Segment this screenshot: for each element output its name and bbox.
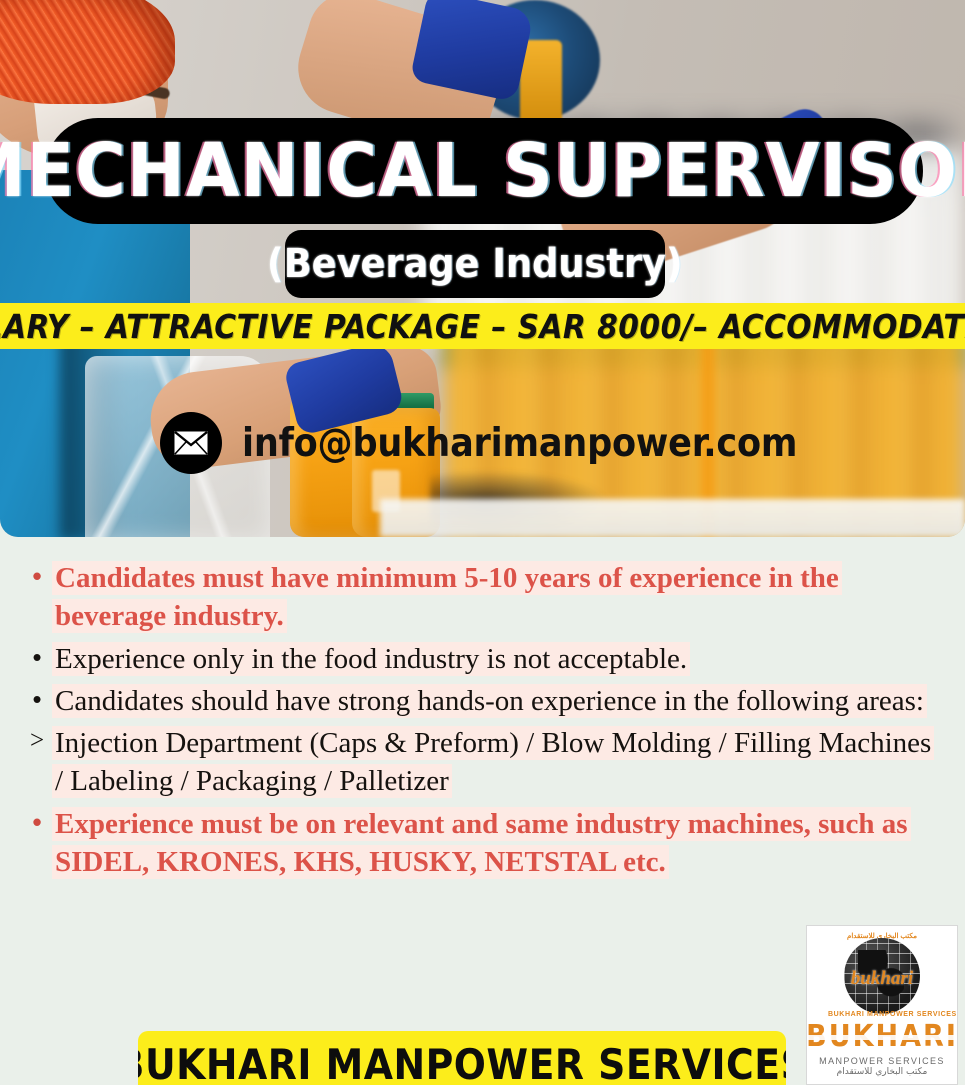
envelope-icon bbox=[160, 412, 222, 474]
requirement-item: • Experience only in the food industry i… bbox=[22, 640, 945, 678]
job-title: MECHANICAL SUPERVISOR bbox=[0, 128, 965, 214]
contact-email-row[interactable]: info@bukharimanpower.com bbox=[160, 412, 797, 474]
requirement-text: Experience must be on relevant and same … bbox=[52, 805, 945, 882]
company-logo: مكتب البخاري للاستقدام bukhari BUKHARI M… bbox=[806, 925, 958, 1085]
requirement-highlight: Candidates should have strong hands-on e… bbox=[52, 684, 927, 718]
footer-company-name: BUKHARI MANPOWER SERVICES bbox=[138, 1040, 786, 1085]
requirement-item: • Candidates must have minimum 5-10 year… bbox=[22, 559, 945, 636]
arrow-marker: > bbox=[22, 724, 52, 757]
photo-worker-hairnet bbox=[0, 0, 175, 104]
requirement-highlight: Candidates must have minimum 5-10 years … bbox=[52, 561, 842, 633]
bullet-marker: • bbox=[22, 805, 52, 839]
bullet-marker: • bbox=[22, 640, 52, 674]
salary-banner: SALARY – ATTRACTIVE PACKAGE – SAR 8000/–… bbox=[0, 303, 965, 349]
footer-company-banner: BUKHARI MANPOWER SERVICES bbox=[138, 1031, 786, 1085]
job-subtitle-pill: (Beverage Industry) bbox=[285, 230, 665, 298]
logo-tagline-arabic: مكتب البخاري للاستقدام bbox=[837, 1067, 928, 1077]
requirement-text: Experience only in the food industry is … bbox=[52, 640, 945, 678]
requirements-list: • Candidates must have minimum 5-10 year… bbox=[22, 559, 945, 881]
job-subtitle: (Beverage Industry) bbox=[267, 241, 683, 287]
contact-email-text[interactable]: info@bukharimanpower.com bbox=[242, 421, 797, 466]
requirement-text: Candidates must have minimum 5-10 years … bbox=[52, 559, 945, 636]
requirement-text: Injection Department (Caps & Preform) / … bbox=[52, 724, 945, 801]
logo-emblem: مكتب البخاري للاستقدام bukhari BUKHARI M… bbox=[828, 932, 936, 1020]
bullet-marker: • bbox=[22, 559, 52, 593]
requirement-item: • Experience must be on relevant and sam… bbox=[22, 805, 945, 882]
logo-wordmark: BUKHARI bbox=[806, 1022, 958, 1052]
logo-tagline: MANPOWER SERVICES bbox=[819, 1056, 945, 1066]
requirement-highlight: Experience must be on relevant and same … bbox=[52, 807, 911, 879]
photo-counter-surface bbox=[380, 499, 965, 537]
photo-filler-nozzle bbox=[520, 40, 562, 130]
requirement-text: Candidates should have strong hands-on e… bbox=[52, 682, 945, 720]
bullet-marker: • bbox=[22, 682, 52, 716]
logo-arc-bottom-text: BUKHARI MANPOWER SERVICES bbox=[828, 1011, 936, 1018]
salary-banner-text: SALARY – ATTRACTIVE PACKAGE – SAR 8000/–… bbox=[0, 307, 965, 346]
logo-script-text: bukhari bbox=[828, 968, 936, 990]
job-title-pill: MECHANICAL SUPERVISOR bbox=[45, 118, 923, 224]
requirement-highlight: Injection Department (Caps & Preform) / … bbox=[52, 726, 934, 798]
requirement-item: • Candidates should have strong hands-on… bbox=[22, 682, 945, 720]
requirement-highlight: Experience only in the food industry is … bbox=[52, 642, 690, 676]
requirement-item: > Injection Department (Caps & Preform) … bbox=[22, 724, 945, 801]
